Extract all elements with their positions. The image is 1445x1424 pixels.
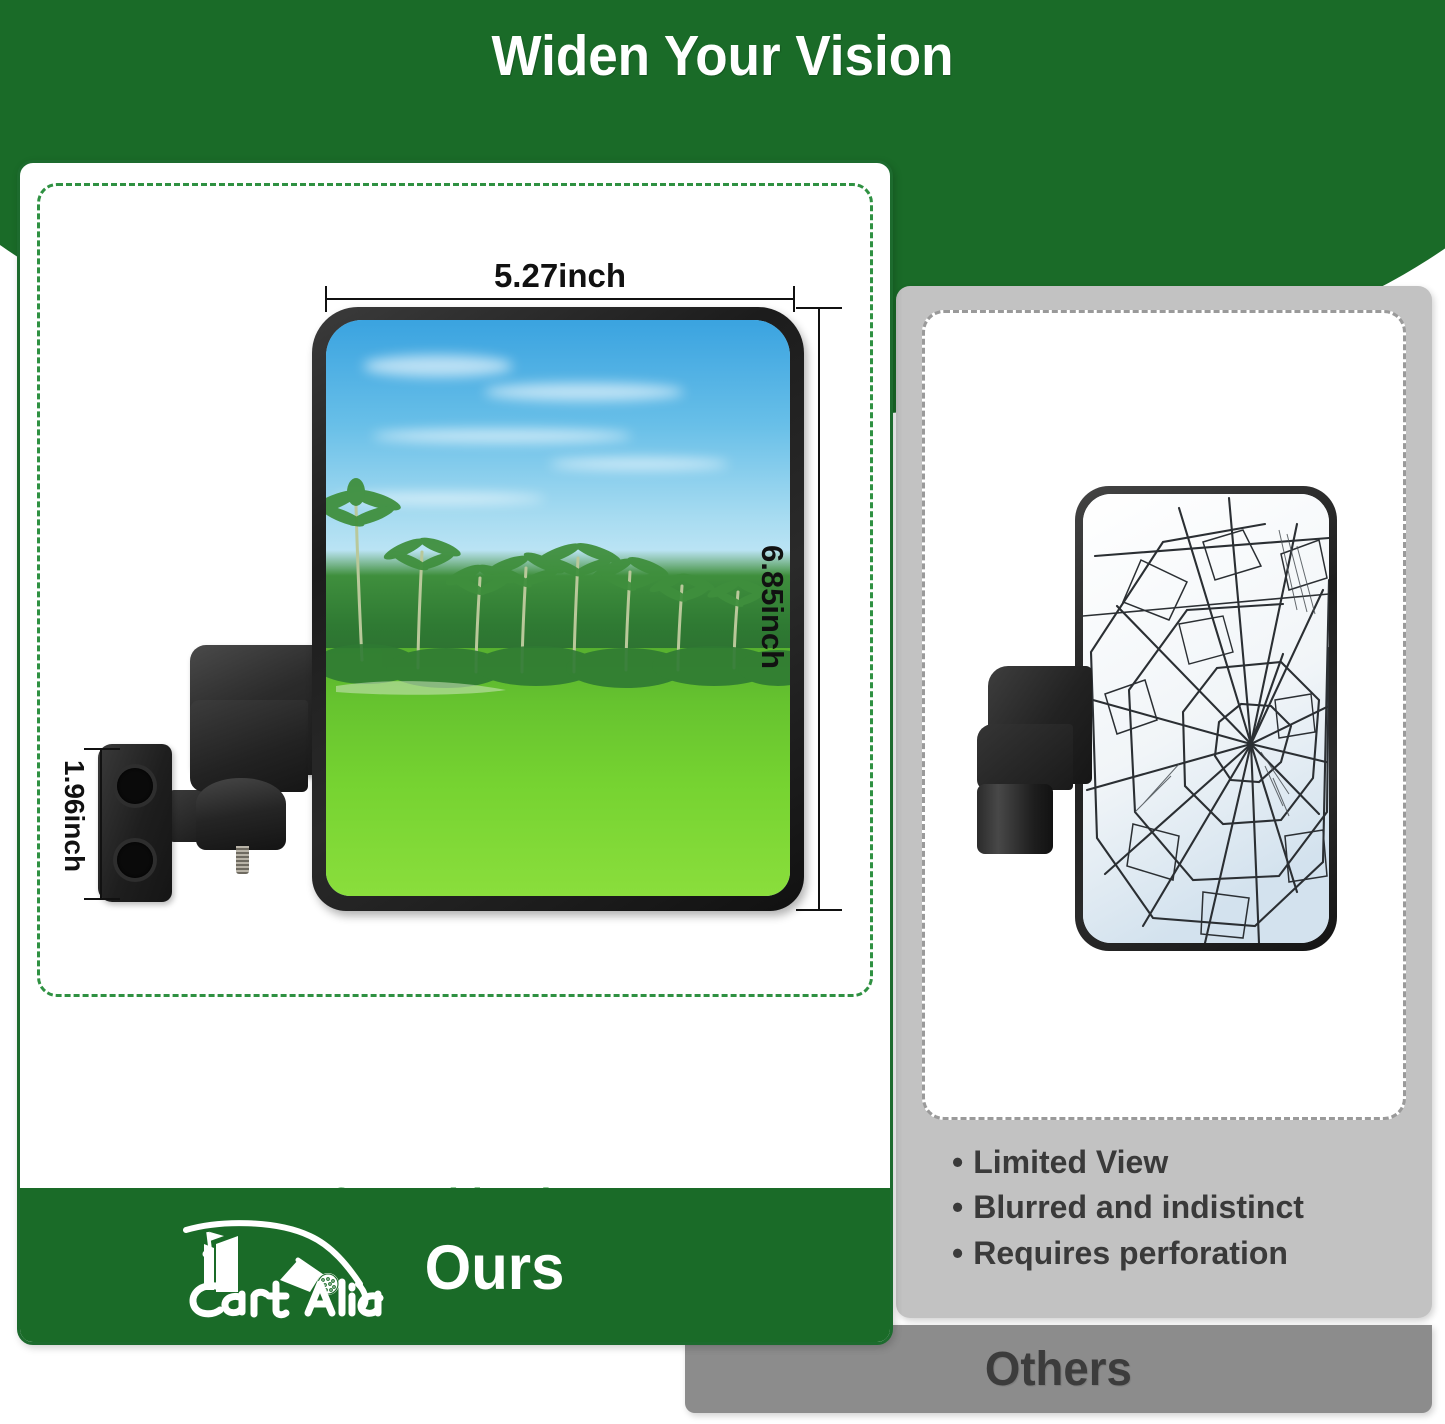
others-bullet-text: Requires perforation (973, 1235, 1288, 1271)
others-bullet-text: Blurred and indistinct (973, 1189, 1304, 1225)
list-item: •Limited View (952, 1140, 1422, 1185)
ours-mirror-product (312, 307, 804, 911)
ours-footer-label: Ours (425, 1232, 565, 1304)
width-dimension-line (325, 298, 795, 300)
width-dimension-label: 5.27inch (325, 257, 795, 295)
ours-footer-bar: Ours (20, 1188, 893, 1345)
page-title: Widen Your Vision (51, 28, 1395, 85)
broken-mirror-glass (1083, 494, 1329, 943)
list-item: •Requires perforation (952, 1231, 1422, 1276)
bracket-hole-lower (117, 842, 153, 878)
list-item: •Blurred and indistinct (952, 1185, 1422, 1230)
broken-mirror-arm-lower (977, 724, 1073, 790)
mirror-pivot-cylinder (196, 778, 286, 850)
height-dimension-line (818, 307, 820, 911)
bracket-hole-upper (117, 768, 153, 804)
crack-pattern-icon (1083, 494, 1329, 943)
palm-trees-icon (326, 320, 790, 896)
pivot-screw-icon (236, 846, 249, 874)
mount-dimension-line (100, 748, 102, 900)
golf-cart-logo-icon (180, 1214, 395, 1322)
infographic-canvas: •Limited View •Blurred and indistinct •R… (0, 0, 1445, 1424)
others-bullet-list: •Limited View •Blurred and indistinct •R… (952, 1140, 1422, 1276)
cartalia-logo (180, 1214, 395, 1322)
bullet-dot-icon: • (952, 1235, 963, 1271)
height-dimension-label: 6.85inch (754, 545, 790, 669)
broken-mirror-post (977, 784, 1053, 854)
bullet-dot-icon: • (952, 1144, 963, 1180)
mirror-glass-reflection (326, 320, 790, 896)
mount-dimension-label: 1.96inch (58, 760, 90, 872)
others-bullet-text: Limited View (973, 1144, 1168, 1180)
others-broken-mirror (1075, 486, 1337, 951)
others-footer-label: Others (985, 1342, 1132, 1397)
bullet-dot-icon: • (952, 1189, 963, 1225)
